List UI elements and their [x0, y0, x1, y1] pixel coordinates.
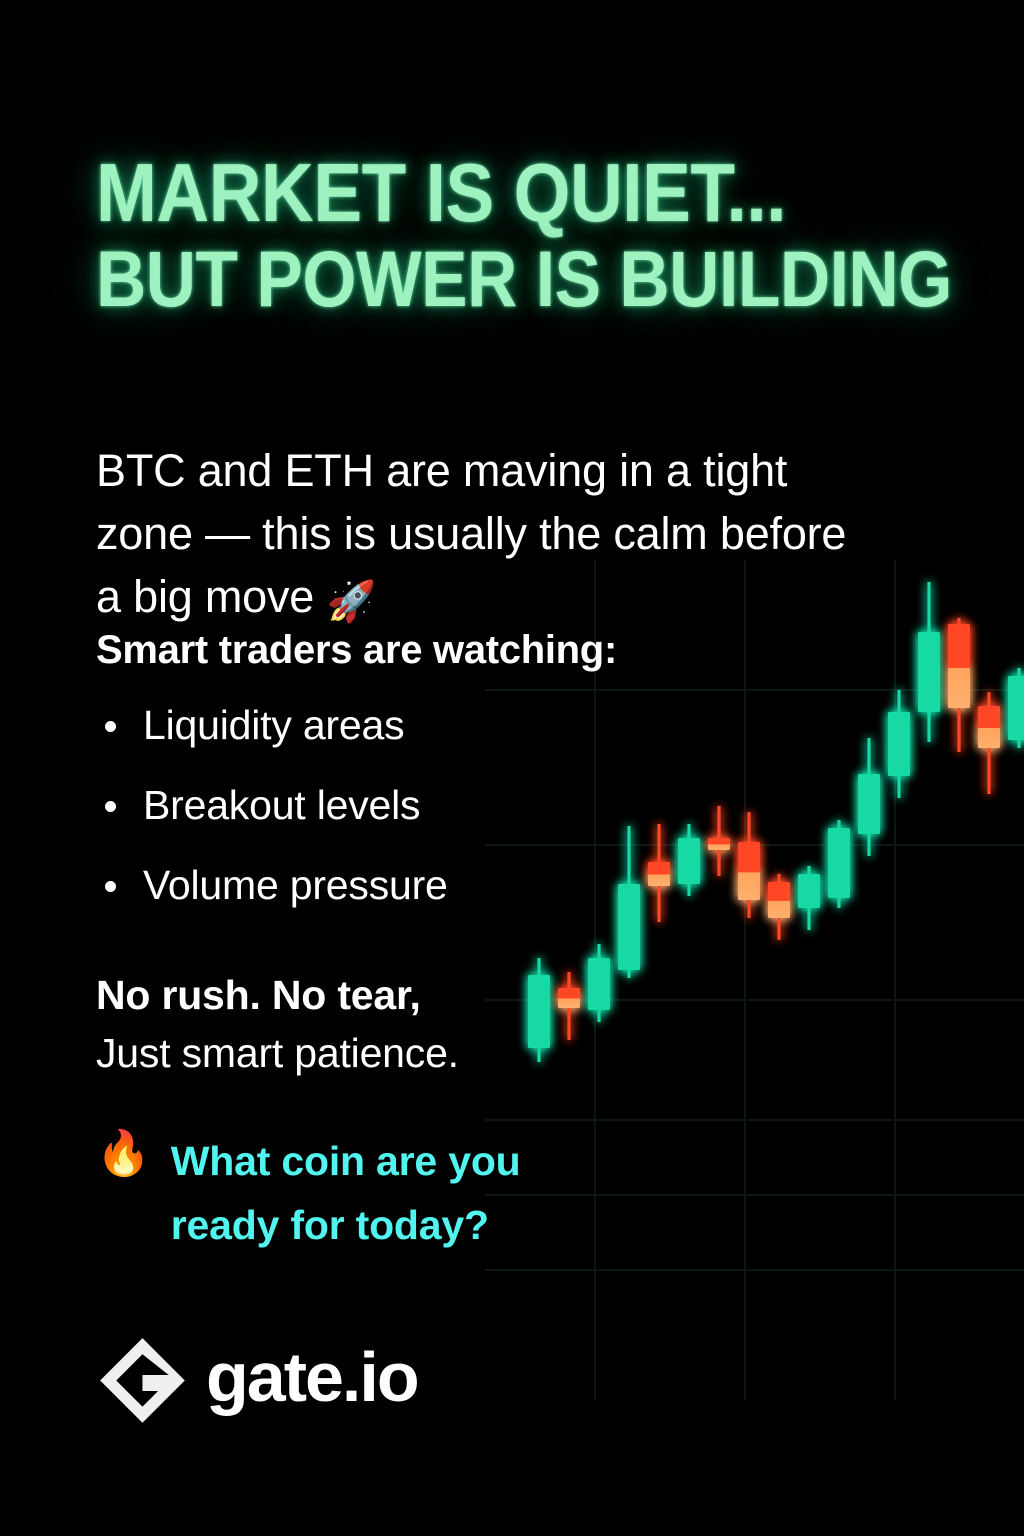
svg-text:gate.io: gate.io [206, 1341, 418, 1416]
list-item: Liquidity areas [96, 705, 448, 746]
lead-text: BTC and ETH are maving in a tight zone —… [96, 445, 846, 622]
patience-line-2: Just smart patience. [96, 1024, 459, 1082]
cta-block: 🔥 What coin are you ready for today? [96, 1130, 521, 1257]
patience-block: No rush. No tear, Just smart patience. [96, 966, 459, 1082]
gateio-logo[interactable]: gate.io [96, 1334, 464, 1426]
headline-line-2: BUT POWER IS BUILDING [96, 240, 853, 317]
list-item: Volume pressure [96, 865, 448, 906]
cta-line-1: What coin are you [171, 1130, 521, 1194]
bullet-dot-icon [105, 801, 116, 812]
list-item: Breakout levels [96, 785, 448, 826]
list-item-label: Breakout levels [143, 782, 420, 828]
headline-block: MARKET IS QUIET... BUT POWER IS BUILDING [96, 152, 956, 318]
list-item-label: Liquidity areas [143, 702, 404, 748]
patience-line-1: No rush. No tear, [96, 966, 459, 1024]
watching-list: Liquidity areas Breakout levels Volume p… [96, 705, 448, 945]
list-item-label: Volume pressure [143, 862, 448, 908]
cta-question: What coin are you ready for today? [171, 1130, 521, 1257]
watching-heading: Smart traders are watching: [96, 628, 617, 673]
headline-line-1: MARKET IS QUIET... [96, 152, 853, 233]
lead-paragraph: BTC and ETH are maving in a tight zone —… [96, 439, 876, 628]
rocket-icon: 🚀 [326, 574, 376, 630]
poster-content: MARKET IS QUIET... BUT POWER IS BUILDING… [0, 0, 1024, 1536]
bullet-dot-icon [105, 721, 116, 732]
cta-line-2: ready for today? [171, 1194, 521, 1258]
gateio-wordmark-icon: gate.io [206, 1341, 464, 1419]
fire-icon: 🔥 [96, 1130, 151, 1178]
poster-canvas: MARKET IS QUIET... BUT POWER IS BUILDING… [0, 0, 1024, 1536]
gateio-logo-mark-icon [96, 1334, 188, 1426]
bullet-dot-icon [105, 881, 116, 892]
